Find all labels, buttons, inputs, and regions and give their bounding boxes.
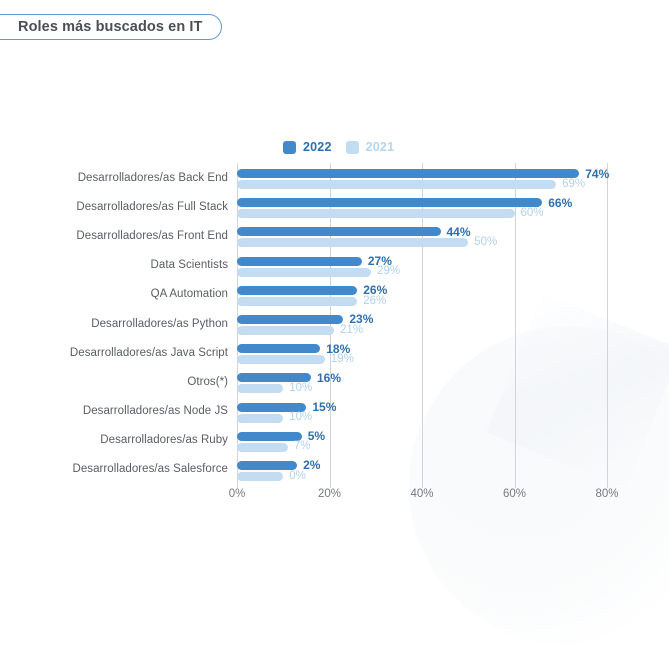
x-axis-tick: 40% — [410, 488, 433, 500]
bar-value-2021: 7% — [294, 441, 311, 453]
bar-2022[interactable] — [237, 286, 357, 295]
bar-group-2021: 60% — [237, 209, 607, 218]
bar-2021[interactable] — [237, 472, 283, 481]
category-label: Otros(*) — [187, 376, 228, 388]
bar-2022[interactable] — [237, 344, 320, 353]
chart-rows: Desarrolladores/as Back End74%69%Desarro… — [237, 163, 607, 484]
bar-2021[interactable] — [237, 268, 371, 277]
bar-group-2022: 16% — [237, 373, 607, 382]
bar-2021[interactable] — [237, 414, 283, 423]
bar-group-2021: 21% — [237, 326, 607, 335]
category-label: Desarrolladores/as Node JS — [83, 405, 228, 417]
bar-2022[interactable] — [237, 403, 306, 412]
bar-group-2021: 29% — [237, 268, 607, 277]
bar-value-2022: 74% — [585, 168, 609, 180]
bar-2022[interactable] — [237, 198, 542, 207]
chart-row: Desarrolladores/as Node JS15%10% — [237, 397, 607, 426]
bar-group-2021: 0% — [237, 472, 607, 481]
bar-value-2021: 19% — [331, 354, 354, 366]
bar-2022[interactable] — [237, 227, 441, 236]
category-label: Desarrolladores/as Back End — [78, 172, 228, 184]
bar-group-2021: 50% — [237, 238, 607, 247]
chart-row: Otros(*)16%10% — [237, 367, 607, 396]
bar-group-2022: 23% — [237, 315, 607, 324]
category-label: Desarrolladores/as Ruby — [100, 434, 228, 446]
bar-value-2021: 10% — [289, 383, 312, 395]
bar-2022[interactable] — [237, 461, 297, 470]
bar-2021[interactable] — [237, 326, 334, 335]
bar-value-2021: 50% — [474, 237, 497, 249]
bar-group-2021: 26% — [237, 297, 607, 306]
bar-group-2022: 15% — [237, 403, 607, 412]
bar-group-2022: 2% — [237, 461, 607, 470]
bar-2021[interactable] — [237, 443, 288, 452]
category-label: Desarrolladores/as Salesforce — [73, 463, 229, 475]
bar-value-2021: 60% — [521, 208, 544, 220]
bar-2022[interactable] — [237, 373, 311, 382]
bar-value-2021: 21% — [340, 325, 363, 337]
bar-value-2022: 66% — [548, 197, 572, 209]
bar-value-2022: 44% — [447, 226, 471, 238]
bar-group-2022: 66% — [237, 198, 607, 207]
category-label: Desarrolladores/as Java Script — [70, 347, 228, 359]
chart-row: Desarrolladores/as Front End44%50% — [237, 221, 607, 250]
bar-group-2022: 26% — [237, 286, 607, 295]
chart-row: Desarrolladores/as Java Script18%19% — [237, 338, 607, 367]
bar-2021[interactable] — [237, 209, 515, 218]
bar-value-2022: 16% — [317, 372, 341, 384]
gridline-80 — [607, 163, 608, 488]
bar-group-2022: 74% — [237, 169, 607, 178]
category-label: Desarrolladores/as Python — [91, 318, 228, 330]
bar-value-2021: 29% — [377, 266, 400, 278]
x-axis-tick: 0% — [229, 488, 246, 500]
bar-chart: Desarrolladores/as Back End74%69%Desarro… — [0, 0, 669, 526]
bar-2022[interactable] — [237, 432, 302, 441]
chart-row: Desarrolladores/as Salesforce2%0% — [237, 455, 607, 484]
chart-row: Desarrolladores/as Python23%21% — [237, 309, 607, 338]
category-label: Desarrolladores/as Front End — [76, 230, 228, 242]
bar-group-2022: 44% — [237, 227, 607, 236]
category-label: QA Automation — [151, 288, 228, 300]
bar-value-2021: 26% — [363, 296, 386, 308]
x-axis-tick: 20% — [318, 488, 341, 500]
bar-value-2021: 10% — [289, 412, 312, 424]
bar-2021[interactable] — [237, 180, 556, 189]
x-axis: 0%20%40%60%80% — [237, 488, 607, 512]
chart-row: QA Automation26%26% — [237, 280, 607, 309]
bar-2022[interactable] — [237, 315, 343, 324]
bar-value-2021: 69% — [562, 179, 585, 191]
bar-value-2021: 0% — [289, 471, 306, 483]
bar-2021[interactable] — [237, 238, 468, 247]
bar-2021[interactable] — [237, 355, 325, 364]
bar-value-2022: 15% — [312, 401, 336, 413]
bar-group-2022: 5% — [237, 432, 607, 441]
bar-group-2021: 10% — [237, 384, 607, 393]
bar-2022[interactable] — [237, 257, 362, 266]
bar-group-2021: 69% — [237, 180, 607, 189]
chart-row: Desarrolladores/as Full Stack66%60% — [237, 192, 607, 221]
category-label: Data Scientists — [151, 259, 228, 271]
bar-group-2021: 19% — [237, 355, 607, 364]
bar-2021[interactable] — [237, 297, 357, 306]
bar-group-2022: 18% — [237, 344, 607, 353]
bar-2022[interactable] — [237, 169, 579, 178]
chart-row: Desarrolladores/as Back End74%69% — [237, 163, 607, 192]
bar-group-2022: 27% — [237, 257, 607, 266]
plot-area: Desarrolladores/as Back End74%69%Desarro… — [237, 163, 607, 488]
chart-row: Data Scientists27%29% — [237, 251, 607, 280]
x-axis-tick: 80% — [595, 488, 618, 500]
x-axis-tick: 60% — [503, 488, 526, 500]
bar-group-2021: 7% — [237, 443, 607, 452]
bar-2021[interactable] — [237, 384, 283, 393]
category-label: Desarrolladores/as Full Stack — [76, 201, 228, 213]
bar-group-2021: 10% — [237, 414, 607, 423]
chart-row: Desarrolladores/as Ruby5%7% — [237, 426, 607, 455]
